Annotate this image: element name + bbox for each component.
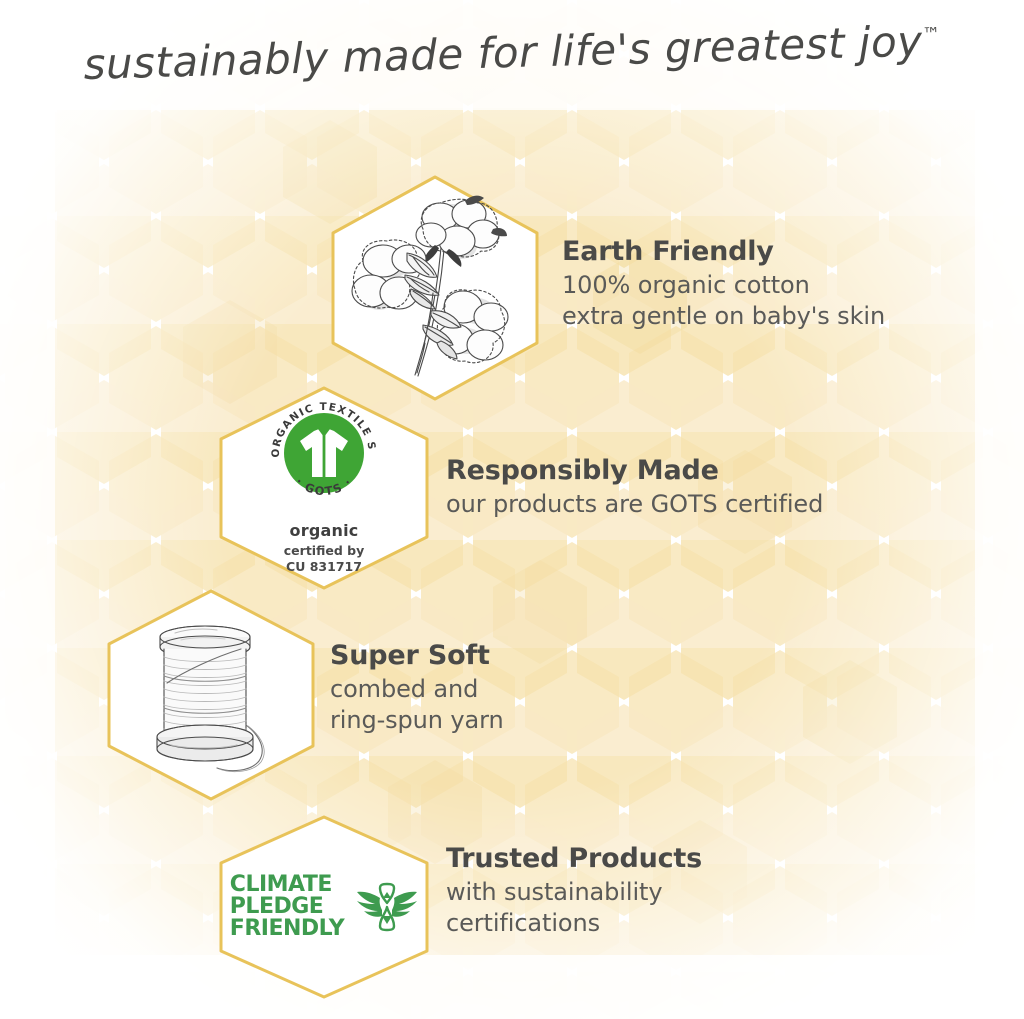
climate-pledge-friendly-icon: CLIMATE PLEDGE FRIENDLY [230, 874, 418, 940]
feature-card-trusted-products: CLIMATE PLEDGE FRIENDLY [216, 814, 432, 1000]
trademark-symbol: ™ [922, 24, 941, 45]
page-headline: sustainably made for life's greatest joy… [0, 14, 1024, 92]
winged-hourglass-icon [356, 882, 418, 932]
gots-certifier-code: CU 831717 [284, 559, 364, 575]
feature-text-super-soft: Super Soft combed and ring-spun yarn [330, 640, 504, 735]
feature-title: Earth Friendly [562, 236, 885, 268]
cotton-plant-sketch-icon [345, 193, 525, 383]
cpf-line-3: FRIENDLY [230, 916, 344, 941]
feature-line: certifications [446, 908, 702, 939]
gots-organic-label: organic [290, 521, 359, 540]
feature-line: combed and [330, 674, 504, 705]
feature-line: 100% organic cotton [562, 270, 885, 301]
feature-line: extra gentle on baby's skin [562, 301, 885, 332]
thread-spool-sketch-icon [131, 613, 291, 778]
feature-card-super-soft [104, 588, 318, 802]
feature-title: Super Soft [330, 640, 504, 672]
feature-card-earth-friendly [327, 173, 543, 403]
feature-line: our products are GOTS certified [446, 489, 823, 520]
gots-certified-by-label: certified by [284, 543, 364, 559]
feature-text-responsibly-made: Responsibly Made our products are GOTS c… [446, 455, 823, 520]
feature-text-earth-friendly: Earth Friendly 100% organic cotton extra… [562, 236, 885, 331]
gots-seal: GLOBAL ORGANIC TEXTILE STANDARD · GOTS · [262, 393, 386, 517]
feature-text-trusted-products: Trusted Products with sustainability cer… [446, 843, 702, 938]
feature-line: ring-spun yarn [330, 705, 504, 736]
feature-title: Responsibly Made [446, 455, 823, 487]
cpf-line-1: CLIMATE [230, 872, 332, 897]
sustainability-infographic: sustainably made for life's greatest joy… [0, 0, 1024, 1019]
gots-certification-icon: GLOBAL ORGANIC TEXTILE STANDARD · GOTS ·… [262, 393, 386, 574]
feature-card-responsibly-made: GLOBAL ORGANIC TEXTILE STANDARD · GOTS ·… [216, 385, 432, 591]
climate-pledge-wordmark: CLIMATE PLEDGE FRIENDLY [230, 874, 344, 940]
feature-title: Trusted Products [446, 843, 702, 875]
feature-line: with sustainability [446, 877, 702, 908]
headline-text: sustainably made for life's greatest joy [83, 17, 923, 89]
